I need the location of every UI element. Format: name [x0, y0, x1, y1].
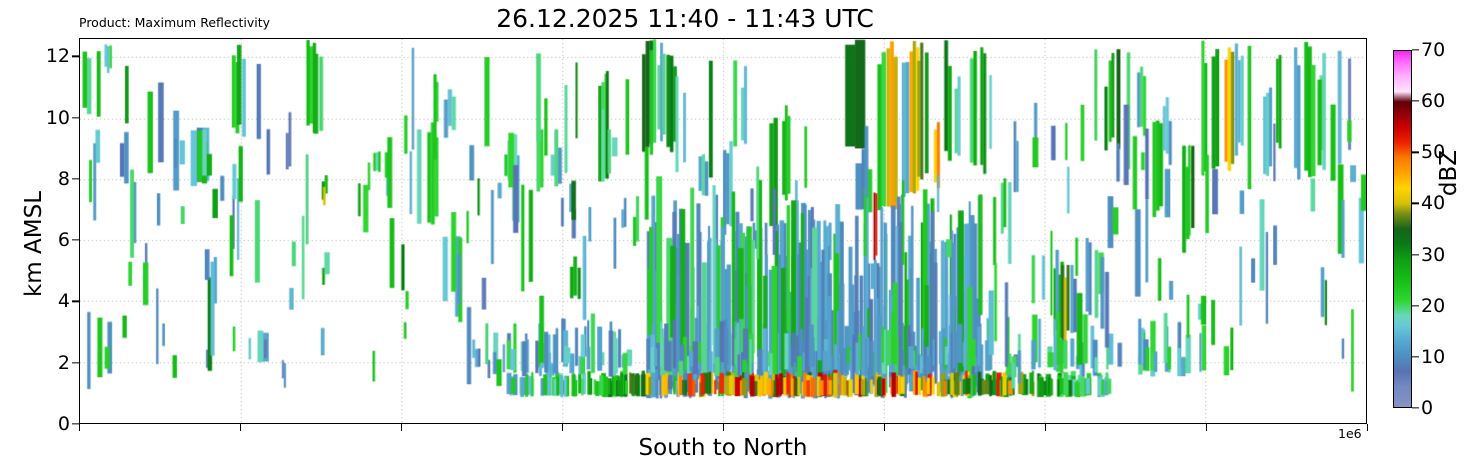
- x-axis-label: South to North: [79, 435, 1367, 461]
- colorbar: [1393, 50, 1412, 408]
- x-tick-mark: [1045, 424, 1046, 431]
- y-tick-mark: [72, 178, 79, 179]
- reflectivity-chart-figure: 26.12.2025 11:40 - 11:43 UTC Product: Ma…: [0, 0, 1482, 470]
- colorbar-tick-mark: [1412, 407, 1419, 408]
- x-tick-mark: [562, 424, 563, 431]
- y-tick-mark: [72, 240, 79, 241]
- colorbar-tick-mark: [1412, 49, 1419, 50]
- colorbar-tick-label: 20: [1421, 295, 1445, 317]
- x-axis-offset-text: 1e6: [1338, 426, 1362, 441]
- y-tick-label: 8: [58, 168, 70, 190]
- colorbar-tick-label: 30: [1421, 244, 1445, 266]
- x-tick-mark: [723, 424, 724, 431]
- y-tick-label: 0: [58, 413, 70, 435]
- colorbar-tick-mark: [1412, 152, 1419, 153]
- reflectivity-canvas: [80, 39, 1366, 423]
- x-tick-mark: [240, 424, 241, 431]
- y-tick-label: 10: [46, 107, 70, 129]
- colorbar-tick-label: 10: [1421, 346, 1445, 368]
- colorbar-tick-label: 0: [1421, 397, 1433, 419]
- y-tick-mark: [72, 56, 79, 57]
- y-tick-label: 2: [58, 352, 70, 374]
- colorbar-tick-mark: [1412, 203, 1419, 204]
- y-tick-mark: [72, 423, 79, 424]
- colorbar-tick-mark: [1412, 305, 1419, 306]
- product-label: Product: Maximum Reflectivity: [79, 15, 270, 30]
- colorbar-label: dBZ: [1436, 103, 1462, 243]
- y-tick-label: 6: [58, 229, 70, 251]
- x-tick-mark: [1206, 424, 1207, 431]
- colorbar-gradient: [1393, 50, 1412, 408]
- y-tick-mark: [72, 362, 79, 363]
- y-axis-label: km AMSL: [21, 124, 47, 364]
- y-tick-mark: [72, 117, 79, 118]
- x-tick-mark: [401, 424, 402, 431]
- colorbar-tick-mark: [1412, 356, 1419, 357]
- x-tick-mark: [1367, 424, 1368, 431]
- colorbar-tick-mark: [1412, 100, 1419, 101]
- x-tick-mark: [884, 424, 885, 431]
- y-tick-mark: [72, 301, 79, 302]
- colorbar-tick-mark: [1412, 254, 1419, 255]
- y-tick-label: 12: [46, 45, 70, 67]
- x-tick-mark: [79, 424, 80, 431]
- colorbar-tick-label: 70: [1421, 39, 1445, 61]
- plot-area: [79, 38, 1367, 424]
- y-tick-label: 4: [58, 290, 70, 312]
